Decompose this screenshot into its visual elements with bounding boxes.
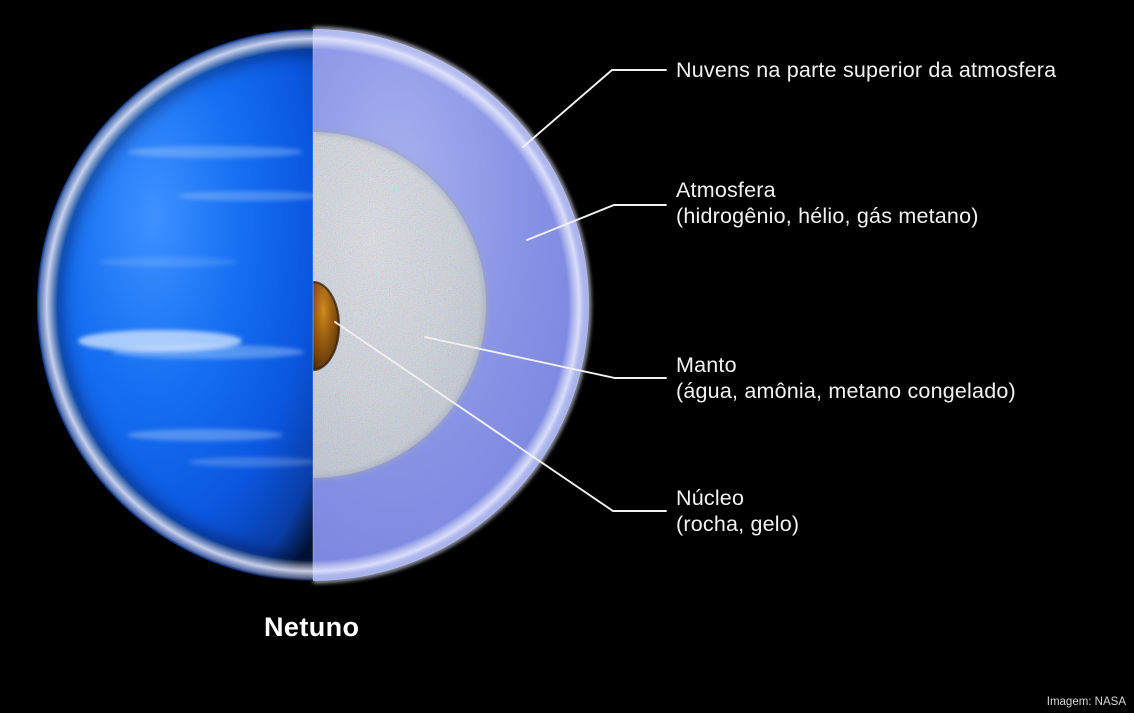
atmosphere-callout-title: Atmosfera [676,177,979,203]
clouds-callout-title: Nuvens na parte superior da atmosfera [676,58,1056,82]
atmosphere-callout: Atmosfera (hidrogênio, hélio, gás metano… [676,177,979,229]
clouds-callout: Nuvens na parte superior da atmosfera [676,57,1056,83]
core-callout: Núcleo (rocha, gelo) [676,485,799,537]
core-callout-title: Núcleo [676,485,799,511]
atmosphere-callout-subtitle: (hidrogênio, hélio, gás metano) [676,203,979,229]
figure-canvas: Nuvens na parte superior da atmosfera At… [0,0,1134,713]
planet-halo [37,29,589,581]
core-callout-subtitle: (rocha, gelo) [676,511,799,537]
mantle-callout: Manto (água, amônia, metano congelado) [676,352,1016,404]
clouds-leader-line [523,70,666,147]
page-title: Netuno [264,612,359,643]
mantle-callout-title: Manto [676,352,1016,378]
mantle-callout-subtitle: (água, amônia, metano congelado) [676,378,1016,404]
image-credit: Imagem: NASA [1047,696,1126,708]
